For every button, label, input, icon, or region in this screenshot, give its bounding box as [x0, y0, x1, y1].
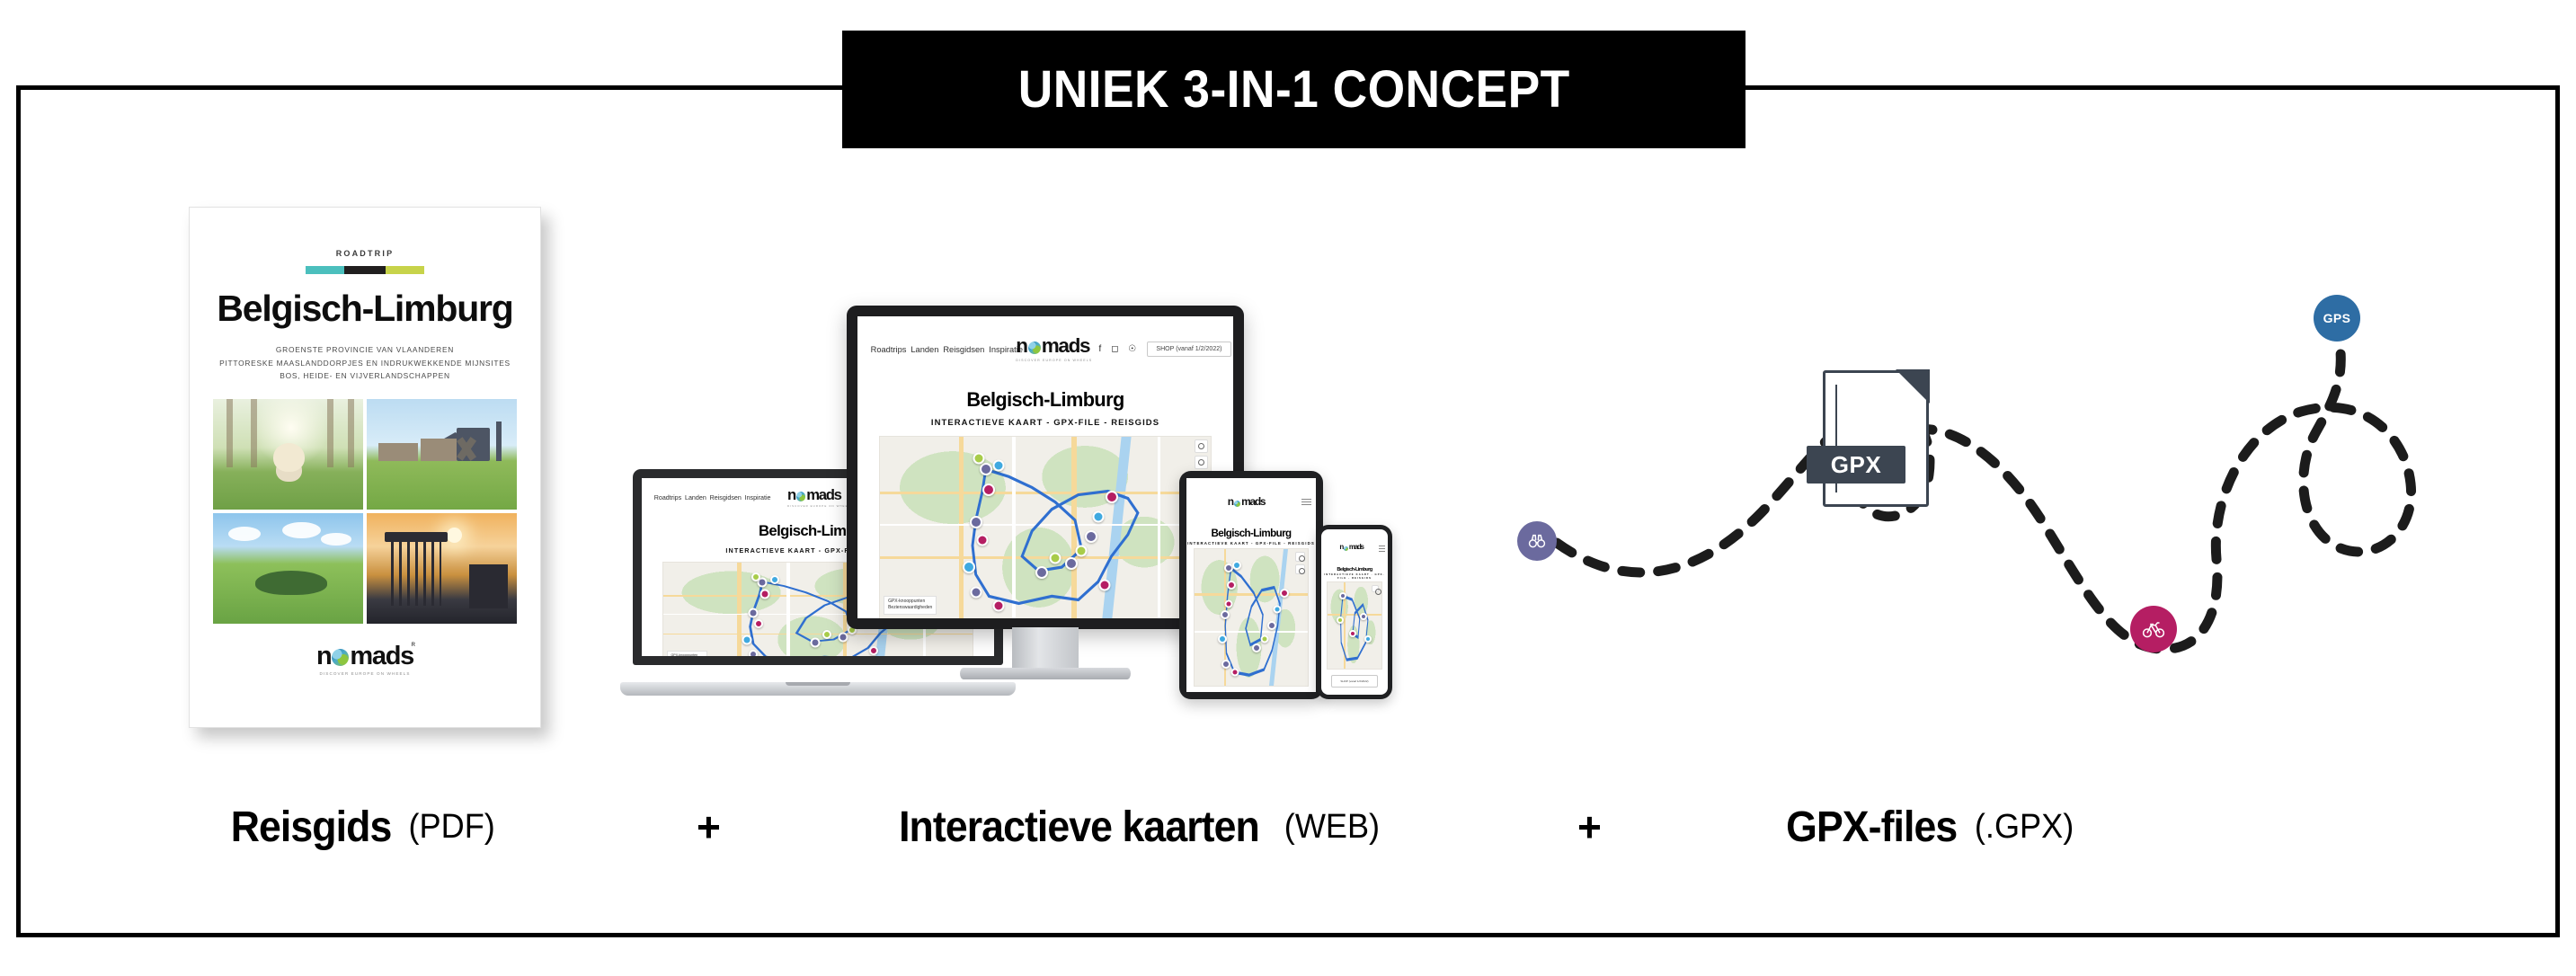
binoculars-marker	[1517, 521, 1557, 561]
shop-button[interactable]: SHOP (vanaf 1/2/2022)	[1147, 342, 1230, 357]
logo-word-before: n	[787, 486, 795, 503]
nav-item-landen[interactable]: Landen	[910, 345, 938, 354]
plus-separator-2: +	[1577, 791, 1602, 863]
legend-item-0: GPX-knooppunten	[671, 653, 703, 656]
nav-item-reisgidsen[interactable]: Reisgidsen	[943, 345, 984, 354]
site-heading: Belgisch-Limburg	[857, 388, 1233, 412]
monitor-stand-neck	[1012, 627, 1079, 669]
travel-guide-book: ROADTRIP Belgisch-Limburg GROENSTE PROVI…	[189, 207, 548, 737]
phone-screen: nmads Belgisch-Limburg INTERACTIEVE KAAR…	[1321, 529, 1388, 695]
accent-segment-black	[344, 266, 386, 274]
legend-item-1: Bezienswaardigheden	[888, 605, 932, 612]
device-tablet: nmads Belgisch-Limburg INTERACTIEVE KAAR…	[1179, 471, 1323, 699]
logo-tagline: DISCOVER EUROPE ON WHEELS	[787, 505, 853, 508]
book-cover: ROADTRIP Belgisch-Limburg GROENSTE PROVI…	[189, 207, 541, 728]
bicycle-icon	[2142, 617, 2165, 641]
gps-label: GPS	[2323, 311, 2351, 325]
globe-icon	[796, 492, 805, 501]
bicycle-marker	[2130, 606, 2177, 652]
social-links[interactable]: f ◻ ☉	[1098, 344, 1136, 354]
nav-item-landen[interactable]: Landen	[685, 494, 706, 501]
logo-word-after: mads	[350, 642, 413, 670]
site-logo[interactable]: nmads	[1191, 496, 1301, 507]
monitor-screen: Roadtrips Landen Reisgidsen Inspiratie n…	[857, 316, 1233, 618]
caption-reisgids: Reisgids (PDF)	[225, 791, 497, 863]
tablet-bezel: nmads Belgisch-Limburg INTERACTIEVE KAAR…	[1179, 471, 1323, 699]
globe-icon	[1028, 342, 1041, 354]
accent-segment-teal	[306, 266, 344, 274]
logo-word-before: n	[1228, 495, 1233, 508]
plus-separator-1: +	[697, 791, 721, 863]
logo-word-after: mads	[806, 486, 840, 503]
gpx-extension-badge: GPX	[1807, 446, 1905, 484]
caption-interactieve-kaarten: Interactieve kaarten (WEB)	[885, 791, 1382, 863]
site-nav: nmads	[1186, 478, 1316, 525]
logo-word-before: n	[1339, 543, 1343, 551]
nav-item-roadtrips[interactable]: Roadtrips	[871, 345, 907, 354]
site-logo[interactable]: nmads DISCOVER EUROPE ON WHEELS	[1009, 336, 1098, 362]
interactive-map[interactable]	[1327, 581, 1383, 670]
facebook-icon[interactable]: f	[1098, 344, 1101, 354]
logo-word-before: n	[316, 642, 331, 670]
book-accent-bar	[213, 266, 517, 274]
map-route	[1328, 582, 1382, 669]
map-zoom-controls[interactable]	[1195, 439, 1208, 469]
book-title: Belgisch-Limburg	[213, 288, 517, 330]
banner-title: UNIEK 3-IN-1 CONCEPT	[1017, 59, 1569, 120]
book-subtitle: GROENSTE PROVINCIE VAN VLAANDEREN PITTOR…	[213, 343, 517, 383]
zoom-out-icon[interactable]	[1195, 456, 1208, 469]
document-body	[1823, 370, 1929, 507]
zoom-in-icon[interactable]	[1195, 439, 1208, 453]
nav-item-reisgidsen[interactable]: Reisgidsen	[710, 494, 742, 501]
site-heading: Belgisch-Limburg	[1321, 567, 1388, 572]
caption-main-2: GPX-files	[1786, 803, 1957, 852]
device-smartphone: nmads Belgisch-Limburg INTERACTIEVE KAAR…	[1317, 525, 1392, 699]
hamburger-menu-icon[interactable]	[1379, 546, 1385, 550]
site-subheading: INTERACTIEVE KAART - GPX-FILE - REISGIDS	[1186, 541, 1316, 546]
binoculars-icon	[1527, 531, 1547, 551]
book-subtitle-line-1: GROENSTE PROVINCIE VAN VLAANDEREN	[213, 343, 517, 357]
monitor-stand-foot	[960, 668, 1131, 679]
device-mockups: Roadtrips Landen Reisgidsen Inspiratie n…	[620, 306, 1483, 728]
interactive-map[interactable]: GPX-knooppunten Bezienswaardigheden	[879, 436, 1212, 618]
map-route	[1195, 549, 1309, 686]
site-nav-right: f ◻ ☉ SHOP (vanaf 1/2/2022)	[1098, 342, 1220, 357]
interactive-map[interactable]	[1194, 548, 1310, 687]
photo-green-hills	[213, 513, 363, 624]
book-kicker: ROADTRIP	[213, 249, 517, 258]
pinterest-icon[interactable]: ☉	[1128, 344, 1136, 354]
logo-word-after: mads	[1241, 495, 1265, 508]
book-photo-grid	[213, 399, 517, 624]
gpx-file-icon: GPX	[1823, 370, 1929, 507]
caption-paren-1: (WEB)	[1284, 808, 1380, 847]
map-zoom-controls[interactable]	[1372, 585, 1379, 592]
laptop-base	[620, 682, 1016, 696]
nav-item-roadtrips[interactable]: Roadtrips	[654, 494, 682, 501]
logo-word-after: mads	[1349, 543, 1364, 551]
map-route	[880, 437, 1211, 618]
site-logo[interactable]: nmads	[1324, 544, 1380, 551]
tablet-screen: nmads Belgisch-Limburg INTERACTIEVE KAAR…	[1186, 478, 1316, 692]
logo-word-after: mads	[1042, 334, 1090, 357]
site-nav-links[interactable]: Roadtrips Landen Reisgidsen Inspiratie	[871, 345, 1010, 354]
map-zoom-controls[interactable]	[1295, 552, 1305, 574]
logo-word-before: n	[1016, 334, 1026, 357]
header-banner: UNIEK 3-IN-1 CONCEPT	[842, 31, 1745, 148]
book-subtitle-line-2: PITTORESKE MAASLANDDORPJES EN INDRUKWEKK…	[213, 357, 517, 370]
caption-paren-2: (.GPX)	[1975, 808, 2074, 847]
caption-gpx-files: GPX-files (.GPX)	[1780, 791, 2077, 863]
site-nav-links[interactable]: Roadtrips Landen Reisgidsen Inspiratie	[654, 494, 760, 501]
logo-tagline: DISCOVER EUROPE ON WHEELS	[1016, 359, 1092, 363]
site-subheading: INTERACTIEVE KAART - GPX-FILE - REISGIDS	[857, 418, 1233, 428]
caption-paren-0: (PDF)	[409, 808, 495, 847]
gpx-extension-label: GPX	[1831, 451, 1881, 479]
site-heading: Belgisch-Limburg	[1186, 528, 1316, 539]
site-nav: Roadtrips Landen Reisgidsen Inspiratie n…	[857, 316, 1233, 383]
accent-segment-lime	[386, 266, 424, 274]
registered-mark: R	[412, 643, 415, 648]
phone-bezel: nmads Belgisch-Limburg INTERACTIEVE KAAR…	[1317, 525, 1392, 699]
zoom-out-icon[interactable]	[1295, 564, 1305, 574]
photo-blossom-orchard-hiker	[213, 399, 363, 510]
gpx-route-illustration: GPS GPX	[1492, 243, 2490, 710]
legend-item-0: GPX-knooppunten	[888, 599, 932, 606]
caption-main-1: Interactieve kaarten	[899, 803, 1259, 852]
map-legend: GPX-knooppunten Bezienswaardigheden	[884, 596, 937, 615]
globe-icon	[1234, 501, 1240, 507]
zoom-in-icon[interactable]	[1295, 552, 1305, 562]
poster-canvas: UNIEK 3-IN-1 CONCEPT ROADTRIP Belgisch-L…	[0, 0, 2576, 976]
hamburger-menu-icon[interactable]	[1301, 499, 1311, 505]
globe-icon	[1344, 546, 1348, 551]
photo-windmill-village	[367, 399, 517, 510]
shop-button[interactable]: SHOP (vanaf 1/2/2022)	[1331, 675, 1377, 688]
site-subheading: INTERACTIEVE KAART - GPX-FILE - REISGIDS	[1321, 573, 1388, 581]
book-subtitle-line-3: BOS, HEIDE- EN VIJVERLANDSCHAPPEN	[213, 369, 517, 383]
zoom-in-icon[interactable]	[1372, 585, 1379, 592]
book-logo: nmadsR DISCOVER EUROPE ON WHEELS	[213, 643, 517, 677]
logo-tagline: DISCOVER EUROPE ON WHEELS	[316, 672, 413, 677]
site-nav: nmads	[1321, 529, 1388, 565]
map-legend: GPX-knooppunten Bezienswaardigheden	[667, 651, 707, 656]
globe-icon	[332, 649, 349, 666]
instagram-icon[interactable]: ◻	[1111, 344, 1118, 354]
photo-mine-headframe-sunset	[367, 513, 517, 624]
gps-marker: GPS	[2314, 295, 2360, 342]
caption-main-0: Reisgids	[231, 803, 392, 852]
